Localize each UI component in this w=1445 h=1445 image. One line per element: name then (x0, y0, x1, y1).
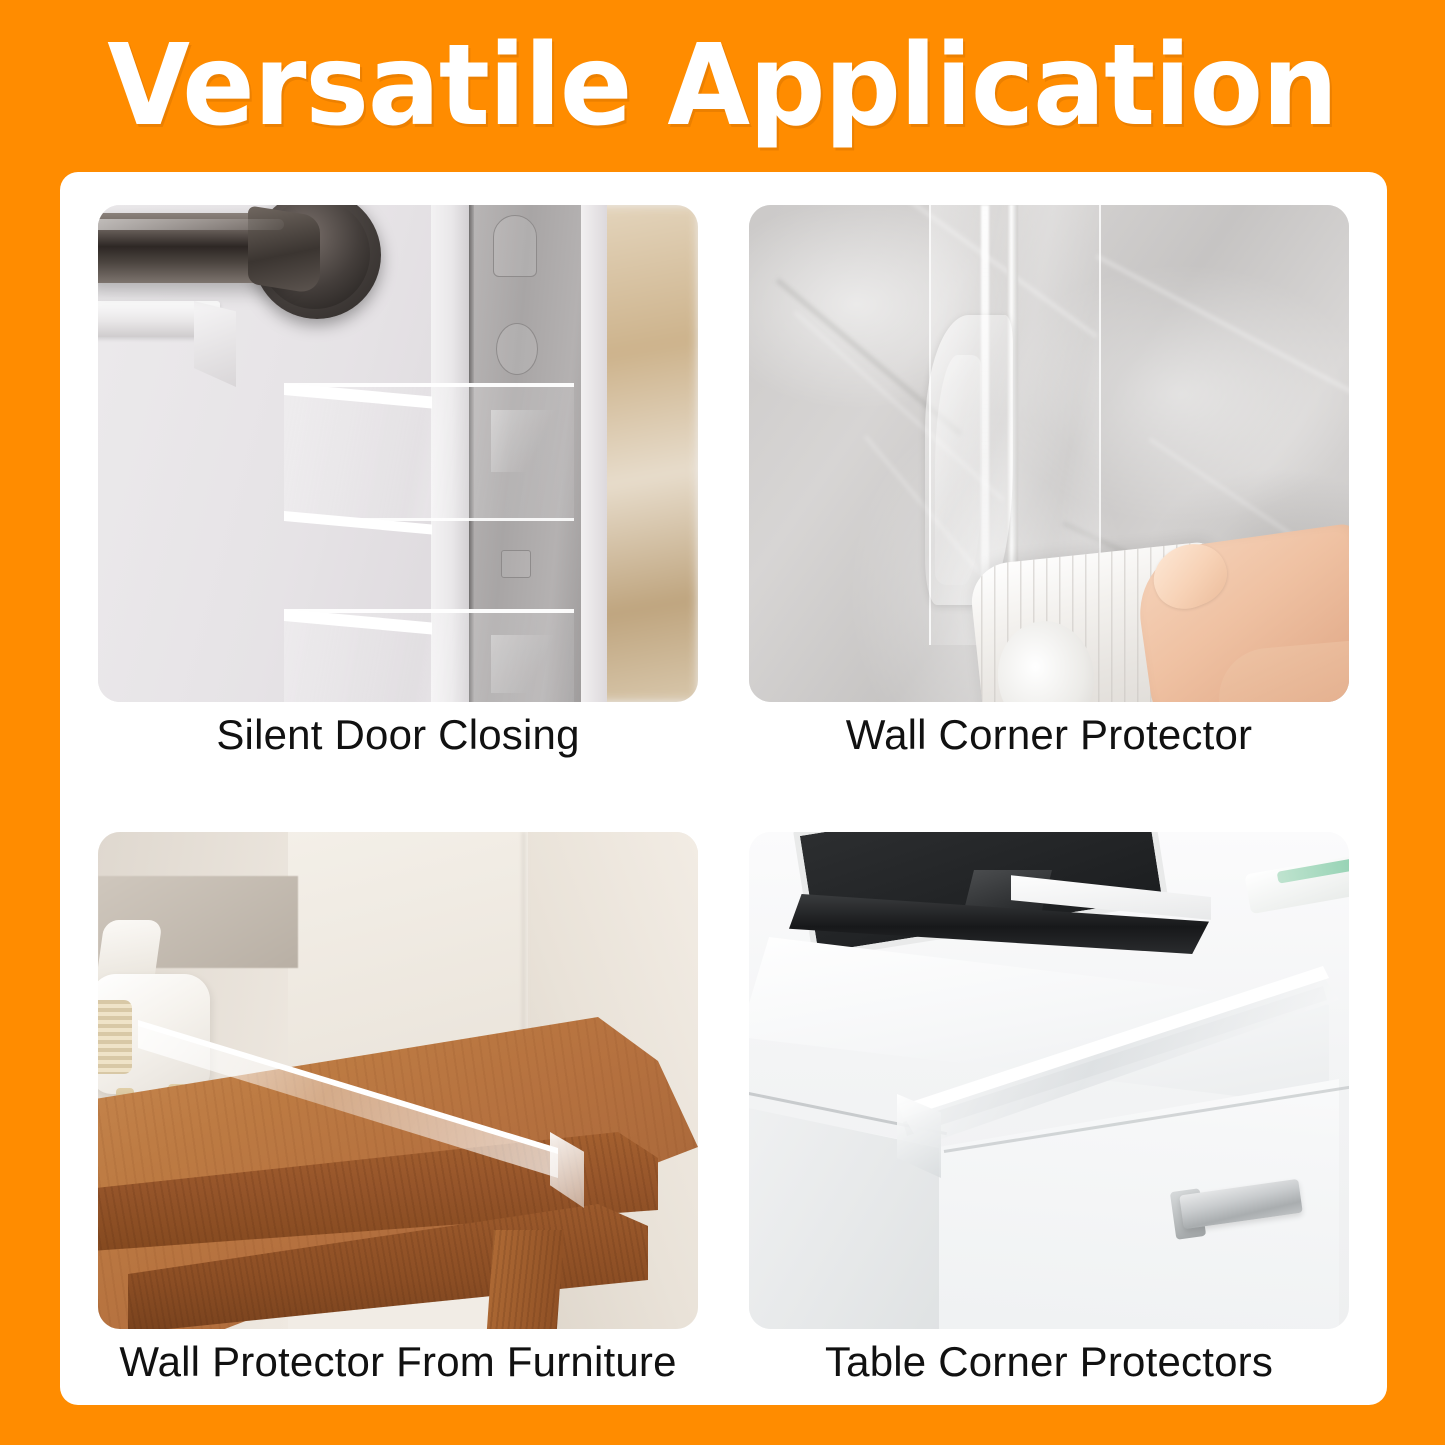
gallery-item-caption: Silent Door Closing (98, 702, 698, 768)
gallery-card: Silent Door Closing (60, 172, 1387, 1405)
photo-wall-corner-protector (749, 205, 1349, 702)
latch-plate-square (501, 550, 531, 578)
table-leg (486, 1230, 564, 1329)
gallery-item-caption: Wall Protector From Furniture (98, 1329, 698, 1395)
photo-wall-protector-from-furniture (98, 832, 698, 1329)
gallery-item-table-corner-protectors[interactable]: Table Corner Protectors (749, 832, 1349, 1372)
corner-protector-strip-1 (284, 383, 574, 521)
corner-protector-strip-2 (284, 609, 574, 702)
clear-tape-peel-inner (935, 355, 981, 585)
door-jamb (581, 205, 607, 702)
gallery-item-caption: Table Corner Protectors (749, 1329, 1349, 1395)
gallery-item-wall-corner-protector[interactable]: Wall Corner Protector (749, 205, 1349, 745)
latch-plate-round (496, 323, 538, 375)
door-handle-highlight (98, 219, 284, 230)
photo-table-corner-protectors (749, 832, 1349, 1329)
speaker-grille (98, 1000, 132, 1074)
latch-plate-top (493, 215, 537, 277)
photo-silent-door-closing (98, 205, 698, 702)
page-title: Versatile Application (108, 30, 1338, 142)
gallery-item-silent-door-closing[interactable]: Silent Door Closing (98, 205, 698, 745)
gallery-item-wall-protector-from-furniture[interactable]: Wall Protector From Furniture (98, 832, 698, 1372)
gallery-item-caption: Wall Corner Protector (749, 702, 1349, 768)
gallery-grid: Silent Door Closing (98, 205, 1349, 1372)
header-banner: Versatile Application (0, 0, 1445, 172)
